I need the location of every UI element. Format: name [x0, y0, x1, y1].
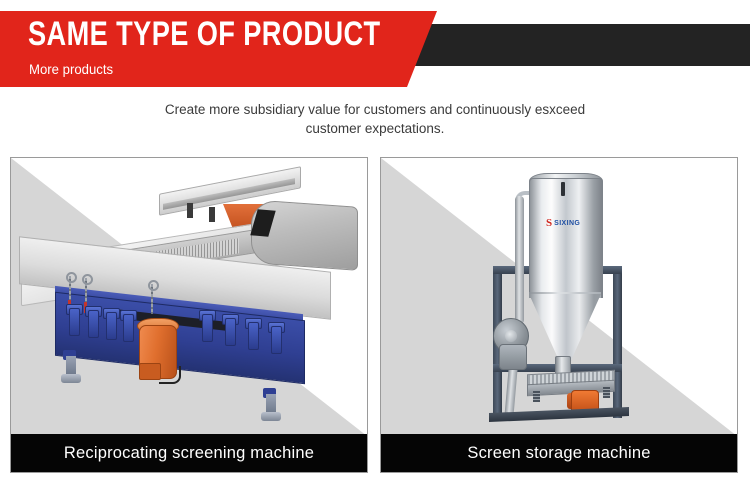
page-title: SAME TYPE OF PRODUCT	[28, 17, 381, 51]
motor-junction-box	[139, 363, 161, 380]
product-card-reciprocating-screening-machine[interactable]: Reciprocating screening machine	[10, 157, 368, 473]
tray-spring	[603, 387, 610, 398]
brand-logo: S SIXING	[546, 218, 588, 229]
product-card-screen-storage-machine[interactable]: S SIXING	[380, 157, 738, 473]
page-subtitle: More products	[29, 61, 113, 77]
section-description: Create more subsidiary value for custome…	[140, 100, 610, 138]
logo-text: SIXING	[554, 220, 580, 228]
leveling-foot	[261, 412, 281, 421]
motor-cable	[159, 366, 181, 384]
product-image-screen-storage-machine: S SIXING	[381, 158, 737, 436]
support-leg	[66, 356, 76, 376]
silo-body	[529, 178, 603, 298]
hook-icon	[148, 280, 159, 291]
product-caption: Screen storage machine	[381, 434, 737, 472]
leveling-foot	[61, 374, 81, 383]
suspension-spring	[69, 308, 80, 336]
suspension-spring	[225, 318, 236, 346]
machine-illustration-reciprocating-screen	[11, 158, 367, 436]
product-card-grid: Reciprocating screening machine	[0, 157, 750, 473]
product-showcase-page: SAME TYPE OF PRODUCT More products Creat…	[0, 0, 750, 485]
machine-illustration-screen-storage: S SIXING	[381, 158, 737, 436]
support-leg	[266, 394, 276, 414]
lid-support-leg	[209, 207, 215, 222]
suspension-spring	[88, 310, 99, 338]
suspension-spring	[202, 314, 213, 342]
suspension-spring	[248, 322, 259, 350]
suspension-spring	[271, 326, 282, 354]
product-caption: Reciprocating screening machine	[11, 434, 367, 472]
hook-icon	[66, 272, 77, 283]
hook-icon	[82, 274, 93, 285]
banner-dark-slab	[410, 24, 750, 66]
section-header-banner: SAME TYPE OF PRODUCT More products	[0, 11, 750, 87]
suspension-spring	[123, 314, 134, 342]
blower-motor	[499, 344, 527, 370]
silo-cone	[529, 294, 601, 361]
lid-support-leg	[187, 203, 193, 218]
frame-post-right	[613, 266, 622, 418]
conveying-pipe	[515, 196, 524, 324]
tray-spring	[533, 391, 540, 402]
suspension-spring	[106, 312, 117, 340]
banner-red-shape: SAME TYPE OF PRODUCT More products	[0, 11, 440, 87]
blower-hub	[505, 330, 517, 342]
product-image-reciprocating-screening-machine	[11, 158, 367, 436]
logo-mark: S	[546, 218, 552, 229]
silo-sight-slot	[561, 182, 565, 196]
